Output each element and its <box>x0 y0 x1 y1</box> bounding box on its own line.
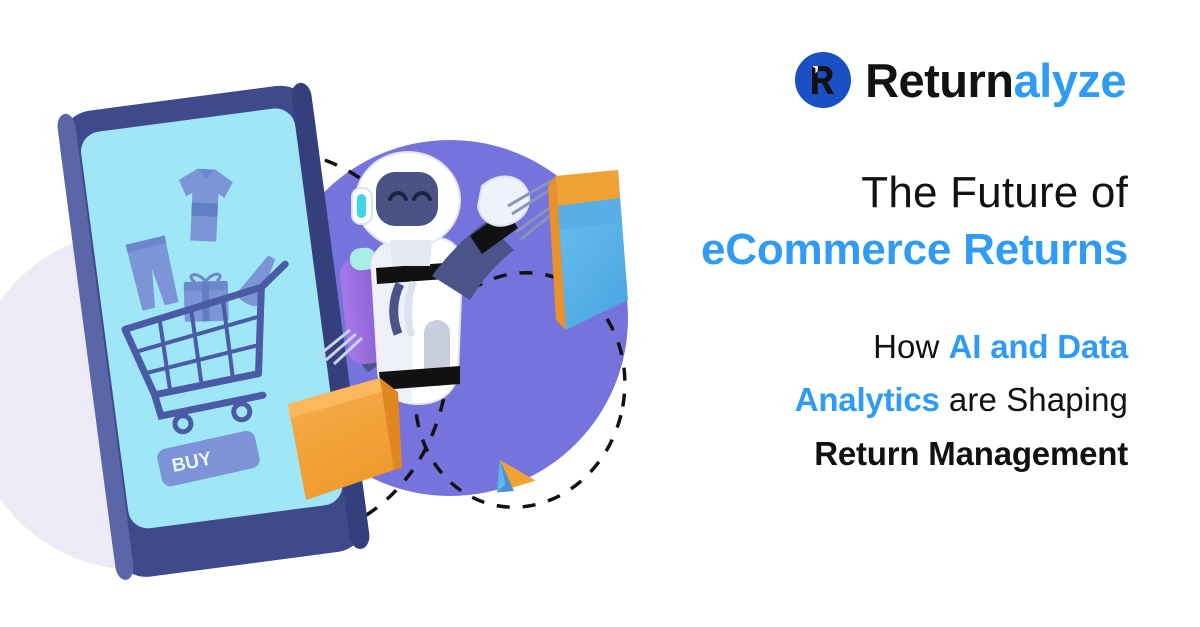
brand-logo[interactable]: Returnalyze <box>795 52 1126 108</box>
logo-r-mark-icon <box>806 63 840 97</box>
subheadline-row3-bold: Return Management <box>814 435 1128 472</box>
subheadline-row-3: Return Management <box>795 427 1128 481</box>
robot-neck <box>390 240 432 266</box>
hero-illustration: BUY <box>0 0 680 627</box>
promotional-banner: BUY <box>0 0 1200 627</box>
subheadline-row1-accent: AI and Data <box>949 328 1128 365</box>
content-panel: Returnalyze The Future of eCommerce Retu… <box>660 0 1200 627</box>
robot-ear-light <box>357 194 366 218</box>
wordmark-primary: Return <box>865 54 1013 107</box>
subheadline-row2-accent: Analytics <box>795 381 940 418</box>
subheadline-block: How AI and Data Analytics are Shaping Re… <box>795 320 1128 481</box>
headline-line-1: The Future of <box>701 166 1128 221</box>
subheadline-row2-plain: are Shaping <box>940 381 1128 418</box>
logo-badge-icon <box>795 52 851 108</box>
subheadline-row-2: Analytics are Shaping <box>795 373 1128 427</box>
headline-line-2: eCommerce Returns <box>701 221 1128 280</box>
headline-block: The Future of eCommerce Returns <box>701 166 1128 280</box>
subheadline-row1-plain: How <box>873 328 949 365</box>
illustration-canvas: BUY <box>0 0 680 627</box>
subheadline-row-1: How AI and Data <box>795 320 1128 374</box>
wordmark-accent: alyze <box>1014 54 1126 107</box>
brand-wordmark: Returnalyze <box>865 57 1126 104</box>
